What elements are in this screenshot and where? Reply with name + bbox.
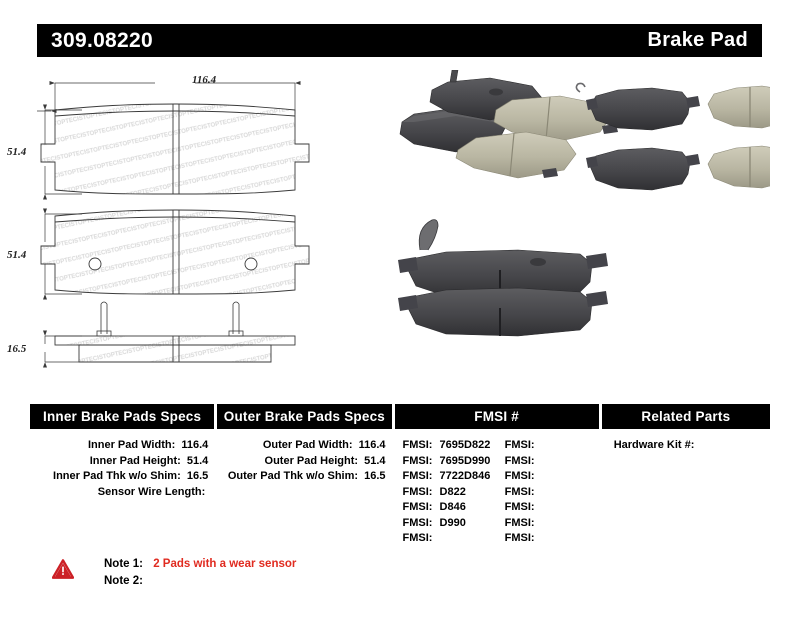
fmsi-item: FMSI: 7695D822 — [403, 438, 497, 454]
fmsi-label: FMSI: — [505, 517, 535, 529]
header-bar: 309.08220 Brake Pad — [37, 24, 762, 57]
thickness-dimension-label: 16.5 — [7, 343, 26, 355]
fmsi-value: 7695D990 — [440, 455, 491, 467]
fmsi-label: FMSI: — [403, 486, 433, 498]
fmsi-value: 7695D822 — [440, 439, 491, 451]
warning-triangle-icon — [52, 559, 74, 579]
note-value: 2 Pads with a wear sensor — [153, 558, 296, 570]
column-header-outer-specs: Outer Brake Pads Specs — [217, 404, 391, 429]
spec-item: Outer Pad Height: 51.4 — [217, 454, 391, 470]
spec-table: Inner Brake Pads Specs Outer Brake Pads … — [30, 404, 770, 547]
spec-item: Outer Pad Thk w/o Shim: 16.5 — [217, 469, 391, 485]
outer-specs-column: Outer Pad Width: 116.4 Outer Pad Height:… — [217, 438, 391, 547]
fmsi-item: FMSI: — [505, 531, 599, 547]
spec-item: Sensor Wire Length: — [30, 485, 214, 501]
spec-value: 16.5 — [187, 470, 208, 482]
fmsi-item: FMSI: — [505, 485, 599, 501]
note-item-1: Note 1: 2 Pads with a wear sensor — [104, 556, 296, 573]
note-label: Note 2: — [104, 575, 143, 587]
fmsi-label: FMSI: — [403, 455, 433, 467]
notes-text-block: Note 1: 2 Pads with a wear sensor Note 2… — [104, 556, 296, 590]
fmsi-value: D990 — [440, 517, 466, 529]
spec-item: Inner Pad Width: 116.4 — [30, 438, 214, 454]
fmsi-value: 7722D846 — [440, 470, 491, 482]
inner-specs-column: Inner Pad Width: 116.4 Inner Pad Height:… — [30, 438, 214, 547]
spec-label: Outer Pad Height: — [265, 455, 359, 467]
fmsi-label: FMSI: — [505, 532, 535, 544]
notes-section: Note 1: 2 Pads with a wear sensor Note 2… — [52, 556, 296, 590]
spec-table-header-row: Inner Brake Pads Specs Outer Brake Pads … — [30, 404, 770, 429]
spec-label: Outer Pad Width: — [263, 439, 353, 451]
fmsi-label: FMSI: — [505, 501, 535, 513]
spec-value: 51.4 — [187, 455, 208, 467]
spec-label: Inner Pad Height: — [90, 455, 181, 467]
column-header-fmsi: FMSI # — [395, 404, 599, 429]
fmsi-value: D822 — [440, 486, 466, 498]
fmsi-item: FMSI: — [505, 469, 599, 485]
fmsi-label: FMSI: — [403, 439, 433, 451]
fmsi-value: D846 — [440, 501, 466, 513]
spec-item: Inner Pad Height: 51.4 — [30, 454, 214, 470]
fmsi-label: FMSI: — [403, 532, 433, 544]
product-photos-svg — [390, 70, 770, 385]
spec-table-body: Inner Pad Width: 116.4 Inner Pad Height:… — [30, 429, 770, 547]
wear-sensor-clips — [97, 302, 243, 336]
photo-pads-flat-group — [576, 83, 770, 190]
spec-label: Inner Pad Thk w/o Shim: — [53, 470, 181, 482]
brake-pad-front-view-middle — [41, 210, 309, 294]
fmsi-label: FMSI: — [505, 439, 535, 451]
spec-value: 51.4 — [364, 455, 385, 467]
spec-value: 116.4 — [181, 439, 208, 451]
spec-item: Outer Pad Width: 116.4 — [217, 438, 391, 454]
column-header-inner-specs: Inner Brake Pads Specs — [30, 404, 214, 429]
fmsi-item: FMSI: — [505, 454, 599, 470]
fmsi-item: FMSI: — [505, 500, 599, 516]
related-part-label: Hardware Kit #: — [614, 439, 695, 451]
note-item-2: Note 2: — [104, 573, 296, 590]
fmsi-item: FMSI: — [403, 531, 497, 547]
fmsi-column: FMSI: 7695D822 FMSI: 7695D990 FMSI: 7722… — [395, 438, 599, 547]
column-header-related-parts: Related Parts — [602, 404, 770, 429]
fmsi-label: FMSI: — [505, 486, 535, 498]
spec-value: 16.5 — [364, 470, 385, 482]
height-dimension-line-top — [37, 66, 51, 111]
product-spec-sheet: 309.08220 Brake Pad STOPTECH — [0, 0, 800, 619]
dimension-drawings-svg: STOPTECH — [37, 66, 377, 384]
fmsi-label: FMSI: — [505, 455, 535, 467]
fmsi-item: FMSI: D822 — [403, 485, 497, 501]
spec-value: 116.4 — [359, 439, 386, 451]
height-dimension-label-top: 51.4 — [7, 146, 26, 158]
fmsi-label: FMSI: — [403, 517, 433, 529]
related-parts-column: Hardware Kit #: — [602, 438, 770, 547]
spec-label: Outer Pad Thk w/o Shim: — [228, 470, 358, 482]
fmsi-item: FMSI: 7695D990 — [403, 454, 497, 470]
note-label: Note 1: — [104, 558, 143, 570]
related-part-item: Hardware Kit #: — [602, 438, 770, 454]
fmsi-label: FMSI: — [403, 501, 433, 513]
brake-pad-front-view-top — [41, 104, 309, 194]
brake-pad-edge-view — [55, 336, 295, 362]
spec-item: Inner Pad Thk w/o Shim: 16.5 — [30, 469, 214, 485]
fmsi-item: FMSI: D990 — [403, 516, 497, 532]
photo-pads-edge-pair — [398, 220, 608, 336]
fmsi-item: FMSI: D846 — [403, 500, 497, 516]
fmsi-subcolumn-right: FMSI: FMSI: FMSI: FMSI: — [497, 438, 599, 547]
product-photos-panel — [390, 70, 770, 385]
fmsi-label: FMSI: — [403, 470, 433, 482]
fmsi-item: FMSI: — [505, 516, 599, 532]
spec-label: Inner Pad Width: — [88, 439, 175, 451]
fmsi-item: FMSI: — [505, 438, 599, 454]
fmsi-label: FMSI: — [505, 470, 535, 482]
height-dimension-label-middle: 51.4 — [7, 249, 26, 261]
product-type-label: Brake Pad — [647, 29, 748, 52]
part-number: 309.08220 — [51, 29, 153, 53]
width-dimension-label: 116.4 — [192, 74, 216, 86]
fmsi-subcolumn-left: FMSI: 7695D822 FMSI: 7695D990 FMSI: 7722… — [395, 438, 497, 547]
spec-label: Sensor Wire Length: — [98, 486, 205, 498]
fmsi-item: FMSI: 7722D846 — [403, 469, 497, 485]
